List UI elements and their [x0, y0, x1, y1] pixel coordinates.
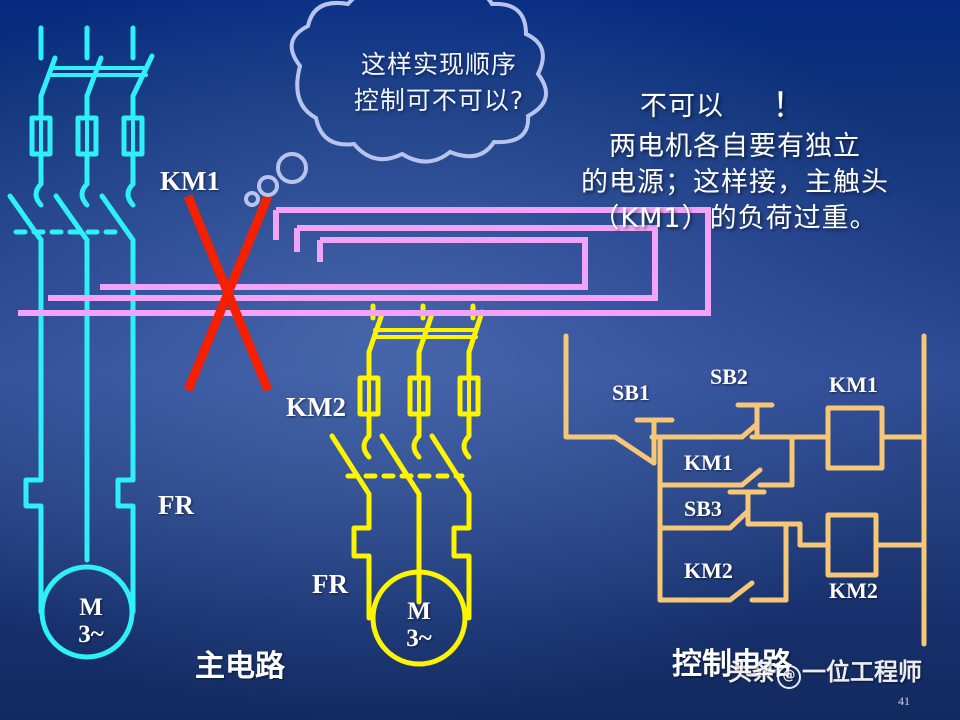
label-fr-branch1: FR: [158, 492, 194, 519]
motor2-phase: 3~: [406, 625, 432, 652]
label-sb2: SB2: [710, 366, 748, 388]
page-number: 41: [898, 694, 910, 709]
label-km2-coil: KM2: [829, 580, 878, 602]
watermark-source: 头条: [728, 658, 776, 686]
motor2-m: M: [407, 598, 431, 625]
label-km1-contact: KM1: [684, 452, 733, 474]
invalid-cross-mark: [188, 196, 268, 390]
answer-line-4: （KM1）的负荷过重。: [520, 201, 950, 237]
answer-line-3: 的电源；这样接，主触头: [520, 165, 950, 201]
label-km2-main: KM2: [286, 394, 346, 421]
motor2-label: M3~: [386, 598, 452, 652]
bubble-line-1: 这样实现顺序: [361, 50, 517, 79]
label-sb3: SB3: [684, 498, 722, 520]
answer-line-2: 两电机各自要有独立: [520, 129, 950, 165]
exclamation-mark: ！: [724, 84, 807, 129]
label-km1-main: KM1: [160, 168, 220, 195]
label-km1-coil: KM1: [829, 374, 878, 396]
watermark: 头条@一位工程师: [728, 652, 922, 689]
answer-text-block: 不可以！ 两电机各自要有独立 的电源；这样接，主触头 （KM1）的负荷过重。: [520, 84, 950, 237]
label-km2-contact: KM2: [684, 560, 733, 582]
caption-main-circuit: 主电路: [195, 652, 285, 682]
answer-line-1: 不可以: [640, 91, 724, 122]
motor1-m: M: [79, 594, 103, 621]
label-fr-branch2: FR: [312, 571, 348, 598]
watermark-author: 一位工程师: [802, 658, 922, 686]
bubble-line-2: 控制可不可以?: [354, 86, 524, 115]
motor1-phase: 3~: [78, 621, 104, 648]
label-sb1: SB1: [612, 382, 650, 404]
slide-canvas: .cy{stroke:#2ff0f6;fill:none;stroke-widt…: [0, 0, 960, 720]
at-icon: @: [777, 665, 801, 689]
motor1-label: M3~: [58, 594, 124, 648]
main-branch-km1: [10, 28, 152, 657]
